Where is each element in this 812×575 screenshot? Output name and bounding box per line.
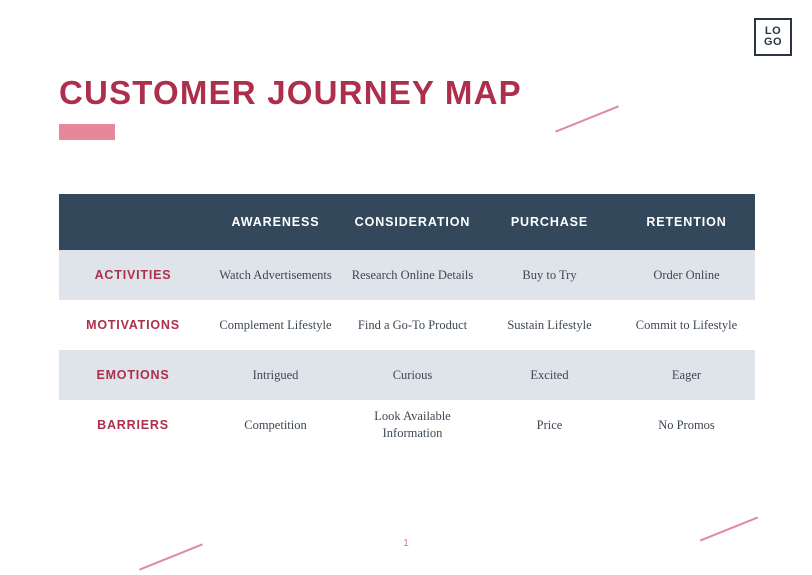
row-label-barriers: BARRIERS (59, 400, 207, 450)
cell-motivations-retention: Commit to Lifestyle (618, 300, 755, 350)
column-header-retention: RETENTION (618, 194, 755, 250)
table-row: MOTIVATIONS Complement Lifestyle Find a … (59, 300, 755, 350)
cell-emotions-awareness: Intrigued (207, 350, 344, 400)
column-header-consideration: CONSIDERATION (344, 194, 481, 250)
table-row: BARRIERS Competition Look Available Info… (59, 400, 755, 450)
customer-journey-table: AWARENESS CONSIDERATION PURCHASE RETENTI… (59, 194, 755, 450)
table-body: ACTIVITIES Watch Advertisements Research… (59, 250, 755, 450)
cell-activities-purchase: Buy to Try (481, 250, 618, 300)
row-label-emotions: EMOTIONS (59, 350, 207, 400)
title-accent-bar (59, 124, 115, 140)
cell-barriers-purchase: Price (481, 400, 618, 450)
column-header-awareness: AWARENESS (207, 194, 344, 250)
table-header-row: AWARENESS CONSIDERATION PURCHASE RETENTI… (59, 194, 755, 250)
cell-emotions-purchase: Excited (481, 350, 618, 400)
cell-activities-consideration: Research Online Details (344, 250, 481, 300)
logo-icon: LO GO (754, 18, 792, 56)
row-label-activities: ACTIVITIES (59, 250, 207, 300)
cell-emotions-retention: Eager (618, 350, 755, 400)
cell-emotions-consideration: Curious (344, 350, 481, 400)
logo-line-bottom: GO (764, 37, 782, 48)
slide-canvas: LO GO CUSTOMER JOURNEY MAP AWARENESS CON… (0, 0, 812, 575)
cell-activities-retention: Order Online (618, 250, 755, 300)
cell-motivations-purchase: Sustain Lifestyle (481, 300, 618, 350)
table-header: AWARENESS CONSIDERATION PURCHASE RETENTI… (59, 194, 755, 250)
cell-barriers-awareness: Competition (207, 400, 344, 450)
table-row: ACTIVITIES Watch Advertisements Research… (59, 250, 755, 300)
row-label-motivations: MOTIVATIONS (59, 300, 207, 350)
cell-motivations-awareness: Complement Lifestyle (207, 300, 344, 350)
cell-barriers-consideration: Look Available Information (344, 400, 481, 450)
cell-barriers-retention: No Promos (618, 400, 755, 450)
table-corner-cell (59, 194, 207, 250)
cell-motivations-consideration: Find a Go-To Product (344, 300, 481, 350)
table-row: EMOTIONS Intrigued Curious Excited Eager (59, 350, 755, 400)
column-header-purchase: PURCHASE (481, 194, 618, 250)
page-title: CUSTOMER JOURNEY MAP (59, 74, 522, 112)
page-number: 1 (0, 538, 812, 549)
cell-activities-awareness: Watch Advertisements (207, 250, 344, 300)
decorative-diagonal-top-right (555, 105, 619, 132)
